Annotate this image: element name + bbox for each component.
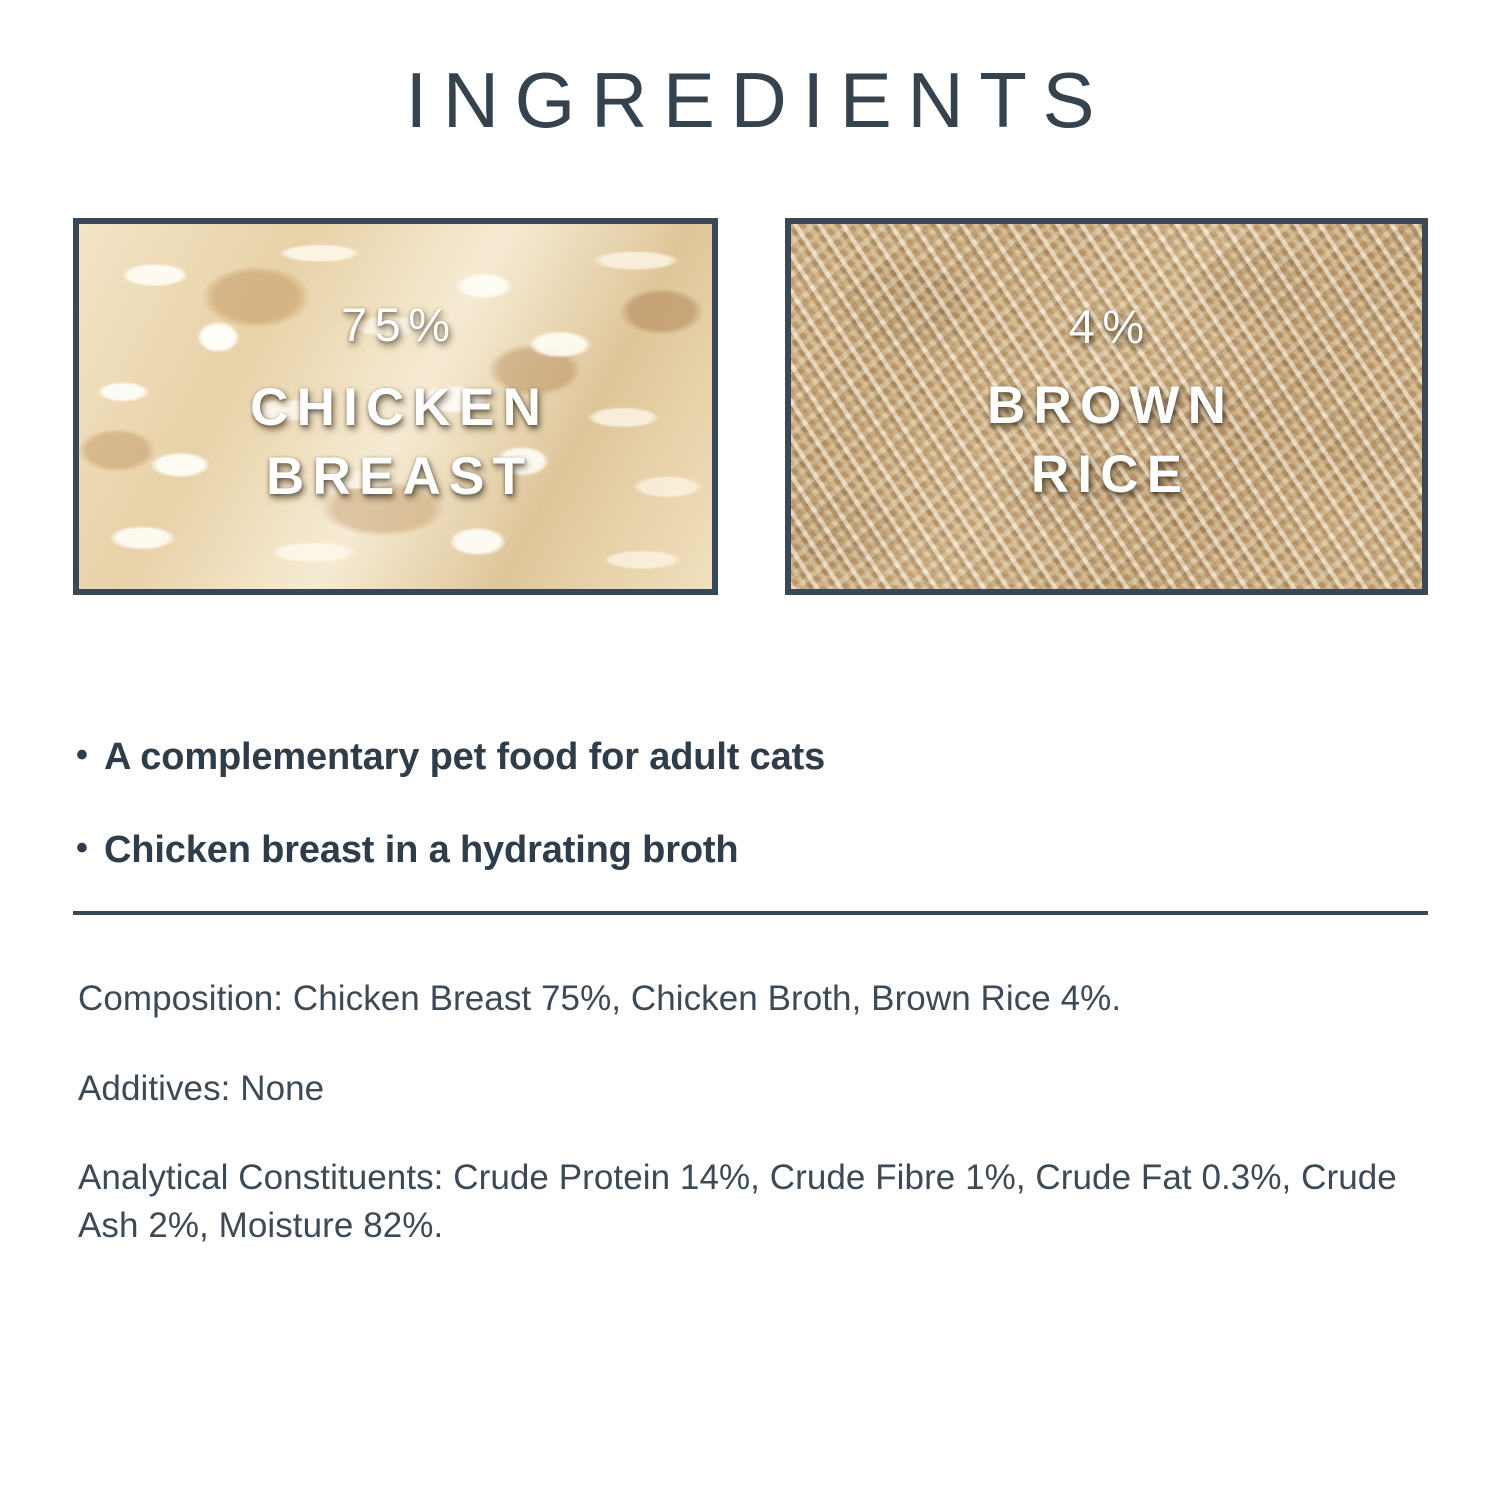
list-item: • A complementary pet food for adult cat… [76,738,1436,776]
ingredient-name-chicken-breast: CHICKEN BREAST [242,374,549,512]
page-title: INGREDIENTS [0,60,1500,142]
composition-text: Composition: Chicken Breast 75%, Chicken… [78,975,1453,1023]
ingredient-caption-brown-rice: 4% BROWN RICE [791,224,1422,589]
ingredient-percent-chicken-breast: 75% [333,301,457,348]
additives-text: Additives: None [78,1065,1453,1113]
feature-bullet-list: • A complementary pet food for adult cat… [76,738,1436,869]
ingredient-card-brown-rice: 4% BROWN RICE [785,218,1428,595]
ingredients-panel: INGREDIENTS 75% CHICKEN BREAST 4% BROWN … [0,0,1500,1500]
ingredient-name-line-2: BREAST [242,443,549,512]
ingredient-name-brown-rice: BROWN RICE [979,372,1234,510]
list-item-label: A complementary pet food for adult cats [104,738,825,776]
ingredient-caption-chicken-breast: 75% CHICKEN BREAST [79,224,712,589]
bullet-dot-icon: • [76,831,104,867]
list-item-label: Chicken breast in a hydrating broth [104,831,738,869]
list-item: • Chicken breast in a hydrating broth [76,831,1436,869]
ingredient-percent-brown-rice: 4% [1061,303,1152,350]
ingredient-name-line-2: RICE [979,441,1234,510]
ingredient-panel-group: 75% CHICKEN BREAST 4% BROWN RICE [73,218,1428,595]
ingredient-name-line-1: CHICKEN [242,374,549,443]
ingredient-card-chicken-breast: 75% CHICKEN BREAST [73,218,718,595]
section-divider [73,911,1428,915]
nutrition-details: Composition: Chicken Breast 75%, Chicken… [78,975,1453,1249]
bullet-dot-icon: • [76,738,104,774]
ingredient-name-line-1: BROWN [979,372,1234,441]
analytical-constituents-text: Analytical Constituents: Crude Protein 1… [78,1154,1453,1249]
